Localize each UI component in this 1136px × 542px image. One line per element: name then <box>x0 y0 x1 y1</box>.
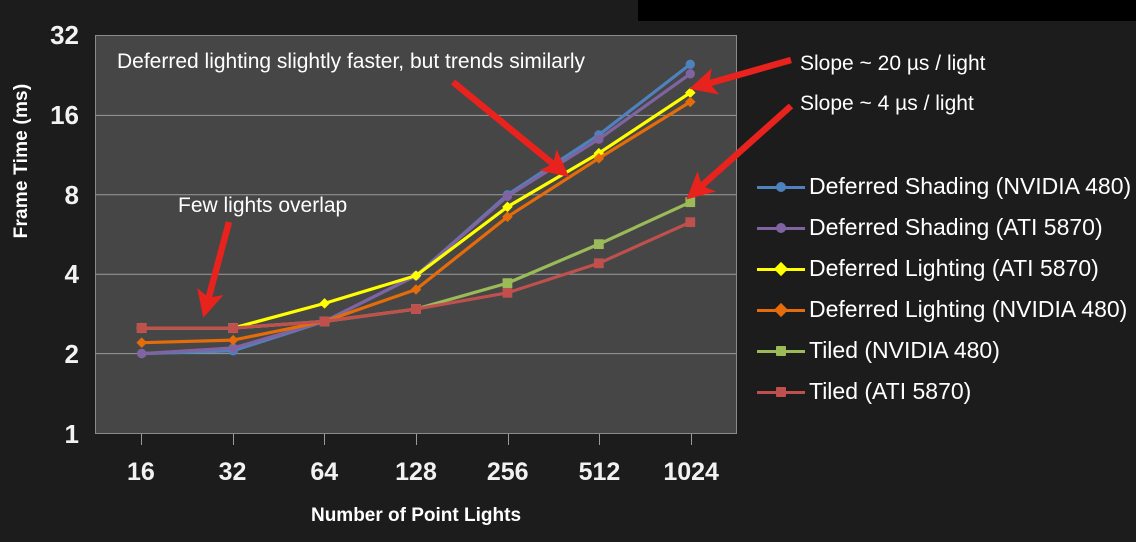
data-point <box>229 324 238 333</box>
legend-item[interactable]: Deferred Lighting (ATI 5870) <box>757 248 1136 289</box>
data-point <box>229 336 238 345</box>
y-axis-tick-label: 4 <box>19 261 79 287</box>
legend-item[interactable]: Deferred Shading (NVIDIA 480) <box>757 166 1136 207</box>
legend-item[interactable]: Tiled (NVIDIA 480) <box>757 330 1136 371</box>
data-point <box>503 192 511 200</box>
x-axis-tick-label: 256 <box>463 460 553 485</box>
y-axis-title: Frame Time (ms) <box>11 81 33 241</box>
x-axis-tick-mark <box>691 434 692 445</box>
legend-swatch-icon <box>757 341 805 361</box>
y-axis-tick-label: 2 <box>19 341 79 367</box>
data-point <box>595 135 603 143</box>
legend-item-label: Tiled (NVIDIA 480) <box>809 339 1000 362</box>
data-point <box>138 349 146 357</box>
chart-legend: Deferred Shading (NVIDIA 480)Deferred Sh… <box>757 166 1136 412</box>
legend-item-label: Tiled (ATI 5870) <box>809 380 971 403</box>
legend-item-label: Deferred Lighting (NVIDIA 480) <box>809 298 1127 321</box>
data-point <box>137 338 146 347</box>
legend-marker-diamond <box>774 261 788 275</box>
legend-item-label: Deferred Lighting (ATI 5870) <box>809 257 1099 280</box>
legend-item[interactable]: Deferred Lighting (NVIDIA 480) <box>757 289 1136 330</box>
top-black-band <box>638 0 1136 21</box>
x-axis-title: Number of Point Lights <box>95 505 737 527</box>
legend-marker-square <box>776 387 786 397</box>
legend-item-label: Deferred Shading (ATI 5870) <box>809 216 1103 239</box>
gridlines <box>96 115 736 353</box>
legend-marker-circle <box>776 182 786 192</box>
x-axis-tick-label: 1024 <box>646 460 736 485</box>
data-point <box>686 60 694 68</box>
annotation-few-lights: Few lights overlap <box>178 194 347 217</box>
x-axis-tick-mark <box>508 434 509 445</box>
chart-plot-svg <box>96 36 736 433</box>
x-axis-tick-label: 128 <box>371 460 461 485</box>
legend-swatch-icon <box>757 177 805 197</box>
x-axis-tick-mark <box>233 434 234 445</box>
data-point <box>137 324 146 333</box>
legend-marker-square <box>776 346 786 356</box>
data-point <box>594 259 603 268</box>
x-axis-tick-label: 16 <box>96 460 186 485</box>
legend-item[interactable]: Deferred Shading (ATI 5870) <box>757 207 1136 248</box>
legend-marker-circle <box>776 223 786 233</box>
legend-item[interactable]: Tiled (ATI 5870) <box>757 371 1136 412</box>
annotation-slope-20: Slope ~ 20 µs / light <box>800 52 985 75</box>
data-point <box>320 317 329 326</box>
x-axis-tick-mark <box>324 434 325 445</box>
data-point <box>320 299 329 308</box>
data-point <box>686 70 694 78</box>
data-point <box>503 288 512 297</box>
data-point <box>594 240 603 249</box>
legend-swatch-icon <box>757 218 805 238</box>
legend-swatch-icon <box>757 300 805 320</box>
legend-marker-diamond <box>774 302 788 316</box>
x-axis-tick-label: 512 <box>554 460 644 485</box>
annotation-trend: Deferred lighting slightly faster, but t… <box>117 50 585 73</box>
x-axis-tick-label: 32 <box>188 460 278 485</box>
y-axis-tick-label: 32 <box>19 22 79 48</box>
x-axis-tick-label: 64 <box>279 460 369 485</box>
legend-item-label: Deferred Shading (NVIDIA 480) <box>809 175 1131 198</box>
x-axis-tick-mark <box>599 434 600 445</box>
y-axis-tick-label: 1 <box>19 421 79 447</box>
data-point <box>503 279 512 288</box>
data-point <box>686 198 695 207</box>
data-point <box>686 218 695 227</box>
legend-swatch-icon <box>757 382 805 402</box>
legend-swatch-icon <box>757 259 805 279</box>
slide-canvas: 12481632 Frame Time (ms) 163264128256512… <box>0 0 1136 542</box>
x-axis-tick-mark <box>416 434 417 445</box>
data-point <box>412 305 421 314</box>
annotation-slope-4: Slope ~ 4 µs / light <box>800 92 974 115</box>
x-axis-tick-mark <box>141 434 142 445</box>
chart-plot-area <box>95 35 737 434</box>
